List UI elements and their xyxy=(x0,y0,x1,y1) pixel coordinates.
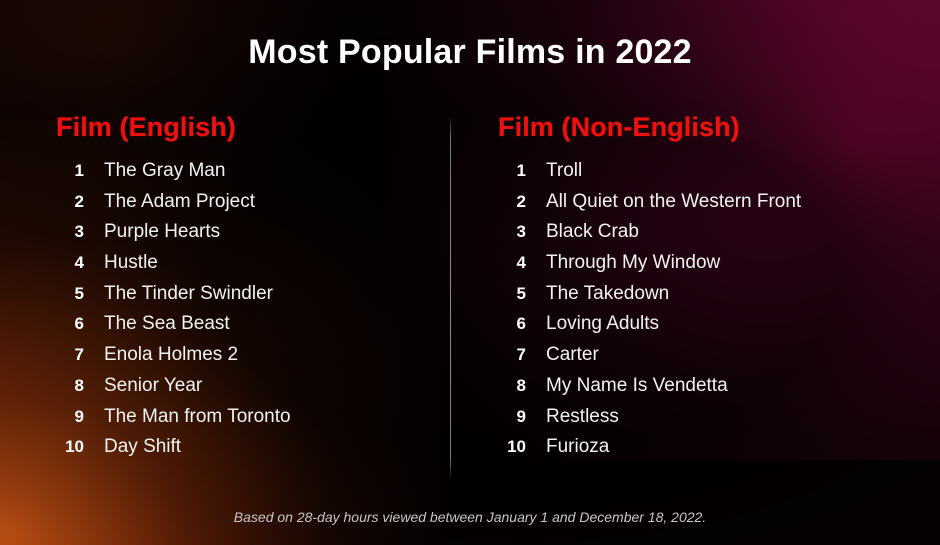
film-title: Senior Year xyxy=(104,375,202,397)
film-title: Carter xyxy=(546,344,599,366)
list-item[interactable]: 6 Loving Adults xyxy=(494,313,904,344)
rank-number: 10 xyxy=(52,437,84,457)
film-title: Troll xyxy=(546,160,582,182)
rank-number: 7 xyxy=(52,345,84,365)
film-title: Day Shift xyxy=(104,436,181,458)
column-non-english: Film (Non-English) 1 Troll 2 All Quiet o… xyxy=(494,112,904,467)
film-title: Black Crab xyxy=(546,221,639,243)
rank-number: 8 xyxy=(494,376,526,396)
rank-number: 5 xyxy=(494,284,526,304)
film-title: Hustle xyxy=(104,252,158,274)
rank-number: 1 xyxy=(494,161,526,181)
list-item[interactable]: 5 The Takedown xyxy=(494,283,904,314)
film-title: The Adam Project xyxy=(104,191,255,213)
rank-number: 5 xyxy=(52,284,84,304)
list-item[interactable]: 5 The Tinder Swindler xyxy=(52,283,432,314)
list-item[interactable]: 4 Through My Window xyxy=(494,252,904,283)
film-title: The Man from Toronto xyxy=(104,406,291,428)
list-item[interactable]: 2 All Quiet on the Western Front xyxy=(494,191,904,222)
rank-number: 2 xyxy=(52,192,84,212)
rank-number: 6 xyxy=(494,314,526,334)
rank-number: 9 xyxy=(52,407,84,427)
film-title: Enola Holmes 2 xyxy=(104,344,238,366)
list-item[interactable]: 8 My Name Is Vendetta xyxy=(494,375,904,406)
film-title: Purple Hearts xyxy=(104,221,220,243)
column-divider xyxy=(450,118,451,478)
column-header-english: Film (English) xyxy=(56,112,432,143)
column-header-non-english: Film (Non-English) xyxy=(498,112,904,143)
rank-number: 1 xyxy=(52,161,84,181)
film-title: The Tinder Swindler xyxy=(104,283,273,305)
film-title: All Quiet on the Western Front xyxy=(546,191,801,213)
rank-number: 8 xyxy=(52,376,84,396)
film-title: Through My Window xyxy=(546,252,720,274)
film-title: The Gray Man xyxy=(104,160,225,182)
list-item[interactable]: 10 Day Shift xyxy=(52,436,432,467)
film-list-english: 1 The Gray Man 2 The Adam Project 3 Purp… xyxy=(52,160,432,467)
list-item[interactable]: 6 The Sea Beast xyxy=(52,313,432,344)
film-list-non-english: 1 Troll 2 All Quiet on the Western Front… xyxy=(494,160,904,467)
list-item[interactable]: 1 Troll xyxy=(494,160,904,191)
list-item[interactable]: 8 Senior Year xyxy=(52,375,432,406)
rank-number: 10 xyxy=(494,437,526,457)
film-title: Loving Adults xyxy=(546,313,659,335)
film-title: Restless xyxy=(546,406,619,428)
rank-number: 3 xyxy=(494,222,526,242)
film-title: Furioza xyxy=(546,436,609,458)
top-films-infographic: Most Popular Films in 2022 Film (English… xyxy=(0,0,940,545)
rank-number: 7 xyxy=(494,345,526,365)
list-item[interactable]: 10 Furioza xyxy=(494,436,904,467)
column-english: Film (English) 1 The Gray Man 2 The Adam… xyxy=(52,112,432,467)
film-title: The Takedown xyxy=(546,283,669,305)
list-item[interactable]: 9 The Man from Toronto xyxy=(52,406,432,437)
list-item[interactable]: 4 Hustle xyxy=(52,252,432,283)
list-item[interactable]: 2 The Adam Project xyxy=(52,191,432,222)
footnote: Based on 28-day hours viewed between Jan… xyxy=(0,509,940,525)
list-item[interactable]: 1 The Gray Man xyxy=(52,160,432,191)
film-title: My Name Is Vendetta xyxy=(546,375,728,397)
list-item[interactable]: 9 Restless xyxy=(494,406,904,437)
rank-number: 6 xyxy=(52,314,84,334)
rank-number: 3 xyxy=(52,222,84,242)
film-title: The Sea Beast xyxy=(104,313,230,335)
rank-number: 9 xyxy=(494,407,526,427)
list-item[interactable]: 7 Enola Holmes 2 xyxy=(52,344,432,375)
rank-number: 4 xyxy=(52,253,84,273)
list-item[interactable]: 7 Carter xyxy=(494,344,904,375)
rank-number: 2 xyxy=(494,192,526,212)
list-item[interactable]: 3 Black Crab xyxy=(494,221,904,252)
list-item[interactable]: 3 Purple Hearts xyxy=(52,221,432,252)
rank-number: 4 xyxy=(494,253,526,273)
page-title: Most Popular Films in 2022 xyxy=(0,33,940,72)
